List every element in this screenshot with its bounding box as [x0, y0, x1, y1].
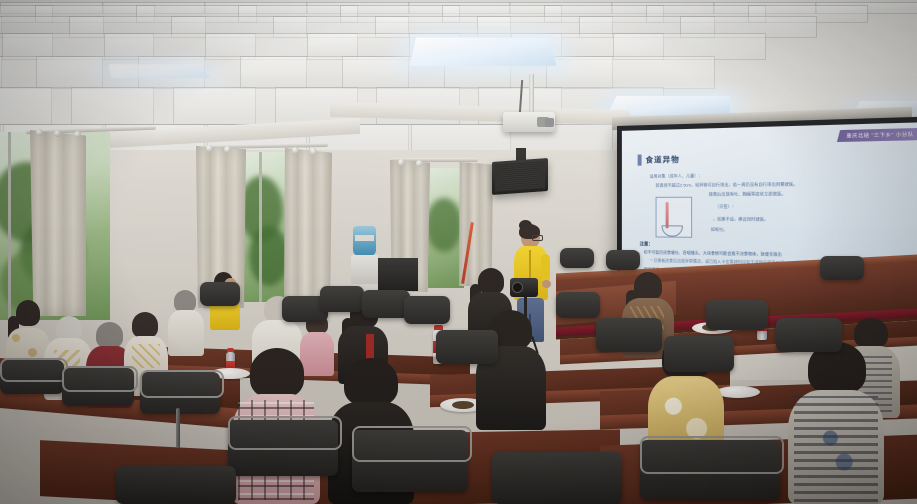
exposure-grade	[0, 0, 917, 504]
photo-scene: 重庆北碚 "三下乡" 小分队 食道异物 适用对象（成年人、儿童）： 若直径不超过…	[0, 0, 917, 504]
